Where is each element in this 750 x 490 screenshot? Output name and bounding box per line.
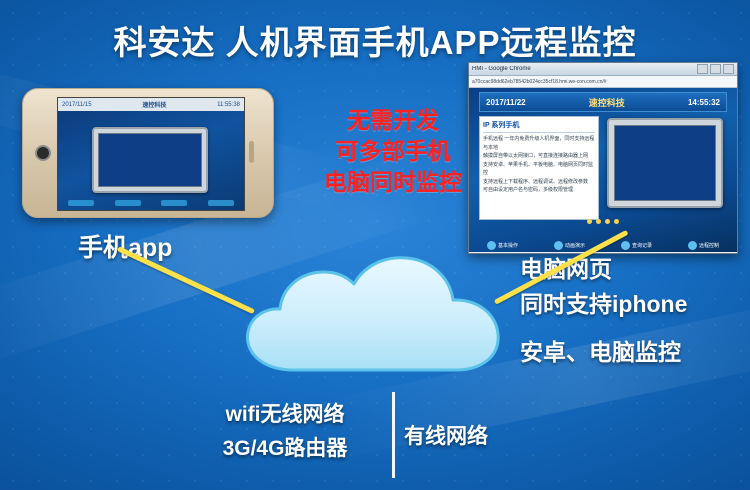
page-button-remote[interactable]: 远程控制: [688, 241, 719, 250]
carousel-dot[interactable]: [596, 219, 601, 224]
phone-tab-animation[interactable]: [115, 200, 141, 206]
phone-camera-icon: [35, 145, 51, 161]
phone-status-bar: 2017/11/15 速控科技 11:55:38: [58, 98, 244, 111]
smartphone-mockup: 2017/11/15 速控科技 11:55:38: [22, 88, 274, 218]
hmi-device-illustration: [607, 118, 723, 208]
hmi-screen: [614, 125, 716, 201]
play-icon: [554, 241, 563, 250]
spacer: [520, 321, 750, 335]
red-callout-line-2: 可多部手机: [298, 136, 488, 167]
browser-window-mockup[interactable]: HMI - Google Chrome a70ccac98dd62eb78542…: [468, 62, 738, 254]
minimize-icon[interactable]: [697, 64, 708, 74]
page-clock: 14:55:32: [688, 98, 720, 107]
page-title: 科安达 人机界面手机APP远程监控: [0, 16, 750, 64]
info-panel: IP 系列手机 手机远程 一年内免费升级人机界面，同时支持远程与本地 触摸屏自带…: [479, 116, 599, 220]
web-caption-line-2: 同时支持iphone: [520, 287, 750, 322]
info-panel-line: 触摸屏自带以太网接口，可直接连接路由器上网: [483, 152, 595, 161]
phone-speaker-icon: [249, 141, 254, 163]
info-panel-line: 可自由设定用户名与密码，多级权限管理: [483, 186, 595, 195]
hmi-device-illustration: [92, 127, 208, 193]
page-date: 2017/11/22: [486, 98, 526, 107]
gear-icon: [487, 241, 496, 250]
info-panel-line: 支持远程上下载程序、远程调试、远程修改参数: [483, 178, 595, 187]
browser-url-text: a70ccac98dd62eb78542b024cc35cf18.hmi.we-…: [472, 79, 607, 85]
info-panel-line: 支持安卓、苹果手机、平板电脑、电脑网页同时监控: [483, 161, 595, 178]
carousel-dot[interactable]: [587, 219, 592, 224]
carousel-dots[interactable]: [587, 219, 619, 224]
info-panel-line: 手机远程 一年内免费升级人机界面，同时支持远程与本地: [483, 135, 595, 152]
list-icon: [621, 241, 630, 250]
phone-tab-remote[interactable]: [208, 200, 234, 206]
close-icon[interactable]: [723, 64, 734, 74]
carousel-dot[interactable]: [605, 219, 610, 224]
page-button-records[interactable]: 查询记录: [621, 241, 652, 250]
page-button-label: 动画演示: [565, 242, 585, 249]
web-caption-line-3: 安卓、电脑监控: [520, 335, 750, 370]
phone-screen: 2017/11/15 速控科技 11:55:38: [57, 97, 245, 211]
page-button-label: 查询记录: [632, 242, 652, 249]
phone-tab-bar[interactable]: [58, 200, 244, 206]
page-button-basic[interactable]: 基本操作: [487, 241, 518, 250]
browser-page-content: 2017/11/22 速控科技 14:55:32 IP 系列手机 手机远程 一年…: [469, 88, 737, 252]
page-header-bar: 2017/11/22 速控科技 14:55:32: [479, 92, 727, 112]
wireless-line-2: 3G/4G路由器: [170, 432, 400, 466]
phone-app-title: 速控科技: [142, 100, 166, 109]
phone-status-clock: 11:55:38: [217, 102, 240, 108]
info-panel-title: IP 系列手机: [483, 120, 595, 133]
red-callout-line-1: 无需开发: [298, 105, 488, 136]
page-button-label: 远程控制: [699, 242, 719, 249]
browser-title-bar: HMI - Google Chrome: [469, 63, 737, 76]
wireless-network-caption: wifi无线网络 3G/4G路由器: [170, 398, 400, 465]
wired-network-caption: 有线网络: [404, 420, 488, 450]
carousel-dot[interactable]: [614, 219, 619, 224]
poster-canvas: 科安达 人机界面手机APP远程监控 2017/11/15 速控科技 11:55:…: [0, 0, 750, 490]
maximize-icon[interactable]: [710, 64, 721, 74]
window-controls[interactable]: [697, 64, 734, 74]
remote-icon: [688, 241, 697, 250]
vertical-divider: [392, 392, 395, 478]
wireless-line-1: wifi无线网络: [170, 398, 400, 432]
red-callout-line-3: 电脑同时监控: [298, 167, 488, 198]
cloud-shape: [232, 252, 522, 382]
page-button-animation[interactable]: 动画演示: [554, 241, 585, 250]
phone-tab-records[interactable]: [161, 200, 187, 206]
phone-tab-basic[interactable]: [68, 200, 94, 206]
browser-window-title: HMI - Google Chrome: [472, 66, 697, 72]
red-callout-block: 无需开发 可多部手机 电脑同时监控: [298, 105, 488, 198]
hmi-screen: [98, 133, 202, 187]
page-button-label: 基本操作: [498, 242, 518, 249]
phone-status-date: 2017/11/15: [62, 102, 92, 108]
phone-caption: 手机app: [78, 228, 172, 264]
browser-address-bar[interactable]: a70ccac98dd62eb78542b024cc35cf18.hmi.we-…: [469, 76, 737, 88]
page-brand: 速控科技: [589, 96, 625, 109]
phone-app-body: [58, 111, 244, 210]
